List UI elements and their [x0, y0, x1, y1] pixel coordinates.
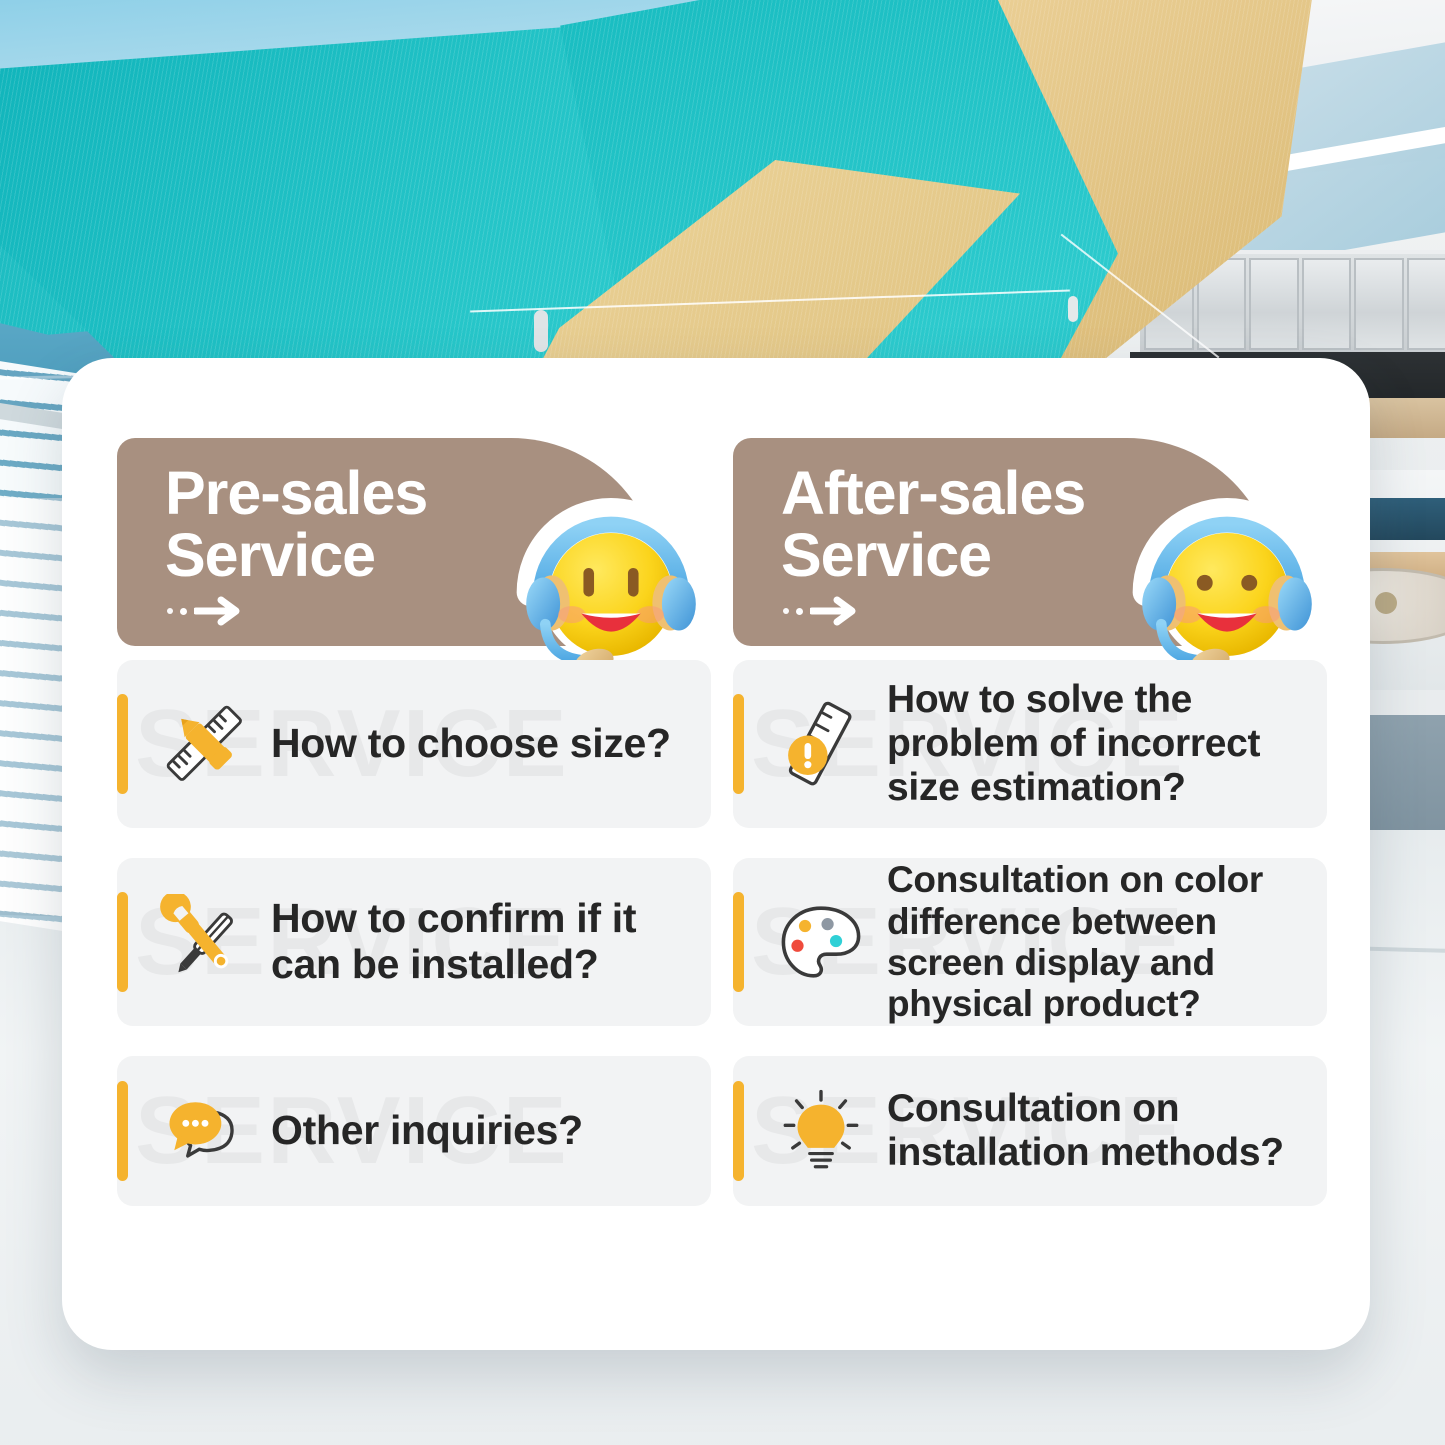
arrow-dot-icon	[796, 608, 803, 615]
chat-bubble-icon	[153, 1079, 257, 1183]
service-item-text: Consultation on installation methods?	[887, 1087, 1311, 1174]
arrow-right-icon	[194, 596, 242, 626]
accent-bar	[733, 892, 744, 992]
accent-bar	[117, 1081, 128, 1181]
column-pre-sales: Pre-sales Service	[117, 438, 711, 1236]
pre-sales-arrow[interactable]	[167, 596, 242, 626]
wrench-screwdriver-icon	[153, 890, 257, 994]
cabinet-door	[1354, 258, 1404, 350]
ruler-pencil-icon	[153, 692, 257, 796]
lightbulb-icon	[769, 1079, 873, 1183]
pre-sales-banner: Pre-sales Service	[117, 438, 711, 660]
service-item-text: How to choose size?	[271, 721, 671, 767]
arrow-right-icon	[810, 596, 858, 626]
service-item[interactable]: SERVICE	[117, 858, 711, 1026]
accent-bar	[117, 694, 128, 794]
service-item[interactable]: SERVICE Consultation on color difference…	[733, 858, 1327, 1026]
after-sales-banner: After-sales Service	[733, 438, 1327, 660]
cabinet-door	[1249, 258, 1299, 350]
sail-anchor-post	[534, 310, 548, 352]
service-info-card: Pre-sales Service	[62, 358, 1370, 1350]
service-item-text: How to confirm if it can be installed?	[271, 896, 695, 988]
arrow-dot-icon	[167, 608, 173, 614]
service-item-text: Other inquiries?	[271, 1108, 583, 1154]
column-after-sales: After-sales Service	[733, 438, 1327, 1236]
accent-bar	[117, 892, 128, 992]
arrow-dot-icon	[783, 608, 789, 614]
screenshot-root: Pre-sales Service	[0, 0, 1445, 1445]
service-columns: Pre-sales Service	[117, 438, 1327, 1236]
service-item[interactable]: SERVICE	[117, 660, 711, 828]
service-item-text: How to solve the problem of incorrect si…	[887, 678, 1311, 809]
pan-knob	[1375, 592, 1397, 614]
accent-bar	[733, 694, 744, 794]
service-item[interactable]: SERVICE	[733, 1056, 1327, 1206]
after-sales-arrow[interactable]	[783, 596, 858, 626]
arrow-dot-icon	[180, 608, 187, 615]
service-item[interactable]: SERVICE How to solve the problem	[733, 660, 1327, 828]
service-item[interactable]: SERVICE Other inquiries?	[117, 1056, 711, 1206]
service-item-text: Consultation on color difference between…	[887, 859, 1311, 1025]
ruler-warning-icon	[769, 692, 873, 796]
color-palette-icon	[769, 890, 873, 994]
accent-bar	[733, 1081, 744, 1181]
sail-anchor-post	[1068, 296, 1078, 322]
cabinet-door	[1302, 258, 1352, 350]
cabinet-door	[1407, 258, 1445, 350]
